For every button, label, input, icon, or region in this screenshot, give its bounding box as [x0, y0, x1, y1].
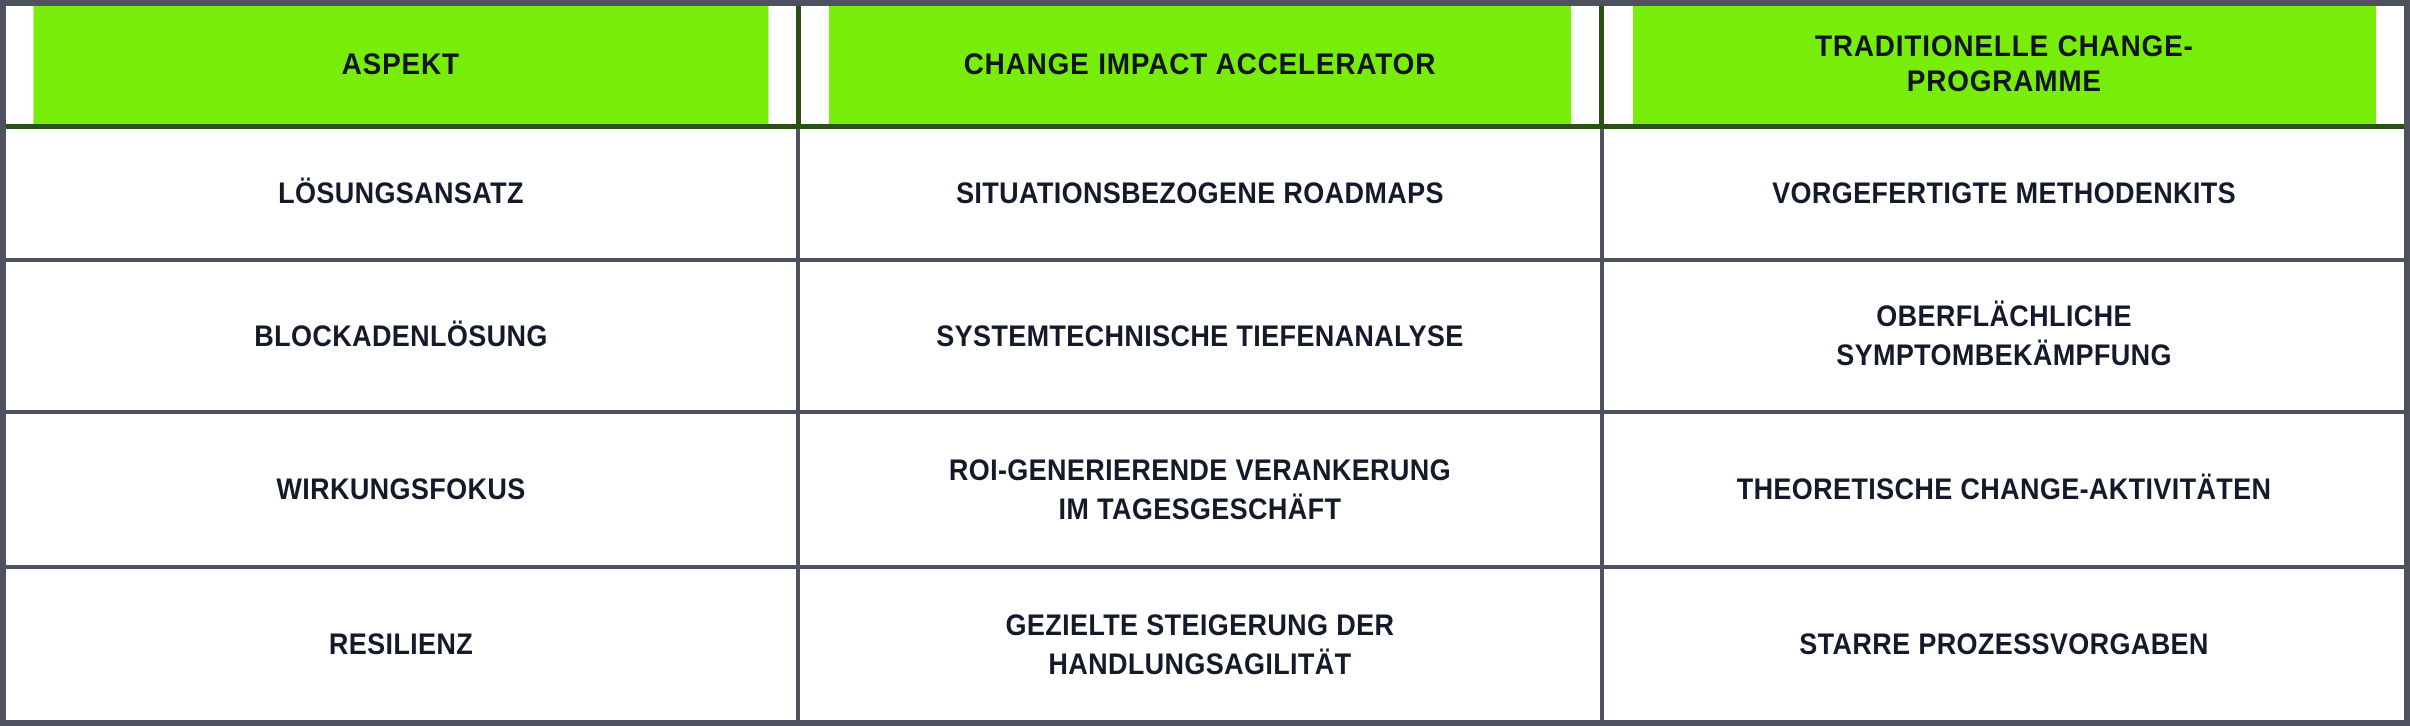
cell-accelerator: ROI-GENERIERENDE VERANKERUNG IM TAGESGES…: [798, 412, 1602, 567]
column-header-aspect: ASPEKT: [31, 3, 770, 127]
column-header-change-impact-accelerator: CHANGE IMPACT ACCELERATOR: [826, 3, 1574, 127]
comparison-table-container: ASPEKT CHANGE IMPACT ACCELERATOR TRADITI…: [0, 0, 2410, 726]
cell-text-aspect: WIRKUNGSFOKUS: [65, 470, 736, 509]
cell-accelerator: GEZIELTE STEIGERUNG DER HANDLUNGSAGILITÄ…: [798, 567, 1602, 723]
cell-traditional: THEORETISCHE CHANGE-AKTIVITÄTEN: [1602, 412, 2407, 567]
cell-aspect: WIRKUNGSFOKUS: [3, 412, 798, 567]
table-row: WIRKUNGSFOKUS ROI-GENERIERENDE VERANKERU…: [3, 412, 2407, 567]
column-header-traditionelle-change-programme: TRADITIONELLE CHANGE- PROGRAMME: [1630, 3, 2379, 127]
cell-traditional: STARRE PROZESSVORGABEN: [1602, 567, 2407, 723]
table-header: ASPEKT CHANGE IMPACT ACCELERATOR TRADITI…: [3, 3, 2407, 127]
table-row: RESILIENZ GEZIELTE STEIGERUNG DER HANDLU…: [3, 567, 2407, 723]
cell-aspect: LÖSUNGSANSATZ: [3, 127, 798, 260]
table-row: BLOCKADENLÖSUNG SYSTEMTECHNISCHE TIEFENA…: [3, 260, 2407, 413]
cell-text-aspect: RESILIENZ: [65, 625, 736, 664]
cell-text-accelerator: GEZIELTE STEIGERUNG DER HANDLUNGSAGILITÄ…: [860, 606, 1540, 684]
cell-text-accelerator: SYSTEMTECHNISCHE TIEFENANALYSE: [860, 317, 1540, 356]
cell-traditional: VORGEFERTIGTE METHODENKITS: [1602, 127, 2407, 260]
cell-accelerator: SITUATIONSBEZOGENE ROADMAPS: [798, 127, 1602, 260]
cell-text-accelerator: SITUATIONSBEZOGENE ROADMAPS: [860, 174, 1540, 213]
table-row: LÖSUNGSANSATZ SITUATIONSBEZOGENE ROADMAP…: [3, 127, 2407, 260]
cell-text-traditional: STARRE PROZESSVORGABEN: [1664, 625, 2344, 664]
cell-aspect: BLOCKADENLÖSUNG: [3, 260, 798, 413]
cell-text-traditional: VORGEFERTIGTE METHODENKITS: [1664, 174, 2344, 213]
table-body: LÖSUNGSANSATZ SITUATIONSBEZOGENE ROADMAP…: [3, 127, 2407, 724]
cell-aspect: RESILIENZ: [3, 567, 798, 723]
cell-text-aspect: LÖSUNGSANSATZ: [65, 174, 736, 213]
cell-text-accelerator: ROI-GENERIERENDE VERANKERUNG IM TAGESGES…: [860, 451, 1540, 529]
cell-text-aspect: BLOCKADENLÖSUNG: [65, 317, 736, 356]
cell-text-traditional: THEORETISCHE CHANGE-AKTIVITÄTEN: [1664, 470, 2344, 509]
header-row: ASPEKT CHANGE IMPACT ACCELERATOR TRADITI…: [3, 3, 2407, 127]
cell-traditional: OBERFLÄCHLICHE SYMPTOMBEKÄMPFUNG: [1602, 260, 2407, 413]
cell-text-traditional: OBERFLÄCHLICHE SYMPTOMBEKÄMPFUNG: [1664, 297, 2344, 375]
cell-accelerator: SYSTEMTECHNISCHE TIEFENANALYSE: [798, 260, 1602, 413]
comparison-table: ASPEKT CHANGE IMPACT ACCELERATOR TRADITI…: [0, 0, 2410, 726]
